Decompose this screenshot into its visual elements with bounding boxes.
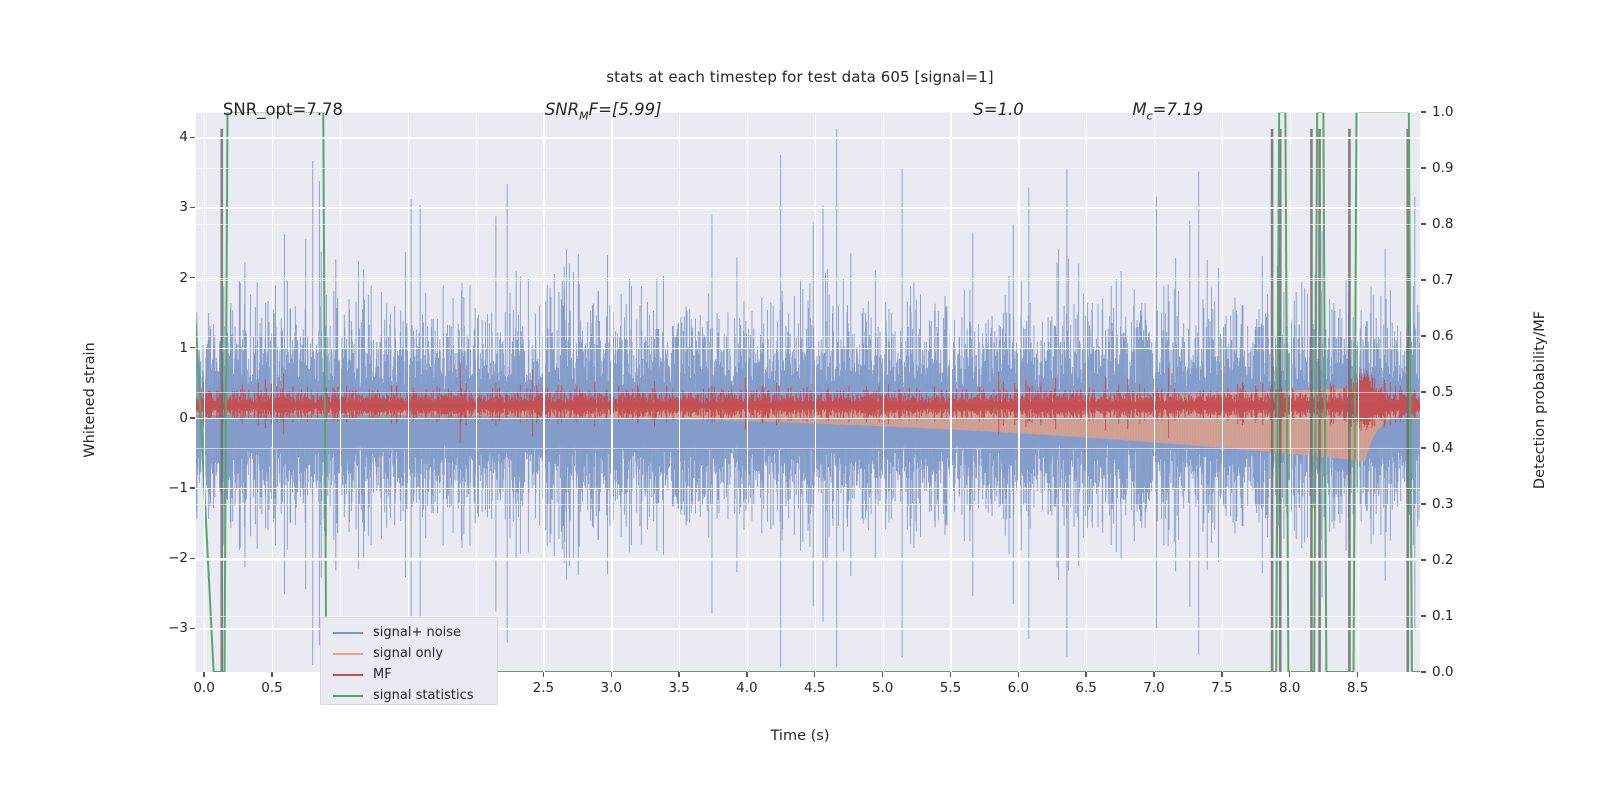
y-tick-mark-right	[1421, 111, 1426, 112]
legend-item-signal-only[interactable]: signal only	[321, 643, 497, 664]
annotation-snr-mf: SNRMF=[5.99]	[545, 100, 662, 122]
y-tick-label-right: 0.7	[1432, 272, 1492, 288]
legend-label-mf: MF	[373, 668, 392, 681]
gridline-vertical	[950, 112, 951, 672]
y-tick-mark-right	[1421, 279, 1426, 280]
legend-label-signal-statistics: signal statistics	[373, 689, 474, 702]
x-tick-mark	[271, 672, 272, 677]
legend-box[interactable]: signal+ noise signal only MF signal stat…	[320, 617, 498, 705]
figure-canvas: stats at each timestep for test data 605…	[0, 0, 1600, 800]
gridline-vertical	[476, 112, 477, 672]
y-tick-label-right: 0.0	[1432, 664, 1492, 680]
y-tick-mark-right	[1421, 615, 1426, 616]
y-tick-label-right: 0.9	[1432, 160, 1492, 176]
gridline-horizontal-right	[196, 392, 1420, 393]
y-tick-label-right: 0.1	[1432, 608, 1492, 624]
legend-item-signal-statistics[interactable]: signal statistics	[321, 685, 497, 706]
gridline-horizontal-right	[196, 224, 1420, 225]
y-tick-label-left: 1	[128, 340, 188, 356]
y-tick-mark-right	[1421, 223, 1426, 224]
x-tick-mark	[1221, 672, 1222, 677]
gridline-horizontal	[196, 488, 1420, 489]
gridline-horizontal	[196, 137, 1420, 138]
x-tick-label: 8.0	[1279, 680, 1300, 696]
x-tick-mark	[203, 672, 204, 677]
x-tick-mark	[1289, 672, 1290, 677]
gridline-vertical	[747, 112, 748, 672]
gridline-vertical	[272, 112, 273, 672]
annotation-chirp-mass: Mc=7.19	[1132, 100, 1203, 122]
gridline-horizontal-right	[196, 448, 1420, 449]
x-tick-mark	[678, 672, 679, 677]
y-tick-mark-right	[1421, 559, 1426, 560]
x-tick-mark	[611, 672, 612, 677]
legend-swatch-signal-statistics	[333, 695, 363, 697]
gridline-vertical	[204, 112, 205, 672]
gridline-vertical	[1222, 112, 1223, 672]
y-tick-mark-left	[190, 207, 195, 208]
x-tick-mark	[746, 672, 747, 677]
annotation-snr-opt: SNR_opt=7.78	[223, 100, 343, 119]
y-tick-label-left: 4	[128, 129, 188, 145]
x-tick-label: 5.5	[940, 680, 961, 696]
x-tick-mark	[882, 672, 883, 677]
x-tick-label: 6.5	[1075, 680, 1096, 696]
gridline-vertical	[611, 112, 612, 672]
legend-label-signal-noise: signal+ noise	[373, 626, 461, 639]
x-tick-mark	[1085, 672, 1086, 677]
y-tick-label-right: 0.4	[1432, 440, 1492, 456]
gridline-horizontal-right	[196, 280, 1420, 281]
x-tick-mark	[1153, 672, 1154, 677]
x-tick-label: 0.5	[261, 680, 282, 696]
x-axis-label: Time (s)	[0, 728, 1600, 744]
x-tick-label: 8.5	[1347, 680, 1368, 696]
x-tick-label: 3.0	[600, 680, 621, 696]
gridline-horizontal-right	[196, 336, 1420, 337]
x-tick-label: 4.0	[736, 680, 757, 696]
y-tick-mark-left	[190, 628, 195, 629]
y-tick-label-right: 0.3	[1432, 496, 1492, 512]
y-tick-mark-left	[190, 137, 195, 138]
gridline-horizontal	[196, 348, 1420, 349]
y-axis-label-right: Detection probability/MF	[1532, 250, 1548, 550]
gridline-vertical	[408, 112, 409, 672]
x-tick-label: 2.5	[533, 680, 554, 696]
y-tick-mark-left	[190, 417, 195, 418]
legend-swatch-mf	[333, 674, 363, 676]
y-tick-mark-right	[1421, 447, 1426, 448]
x-tick-label: 4.5	[804, 680, 825, 696]
gridline-vertical	[340, 112, 341, 672]
x-tick-mark	[543, 672, 544, 677]
gridline-vertical	[815, 112, 816, 672]
y-tick-mark-left	[190, 558, 195, 559]
page-title: stats at each timestep for test data 605…	[0, 68, 1600, 86]
gridline-vertical	[883, 112, 884, 672]
gridline-horizontal-right	[196, 504, 1420, 505]
x-tick-label: 0.0	[193, 680, 214, 696]
y-tick-mark-right	[1421, 503, 1426, 504]
x-tick-label: 7.5	[1211, 680, 1232, 696]
gridline-vertical	[1290, 112, 1291, 672]
y-tick-mark-right	[1421, 391, 1426, 392]
gridline-horizontal-right	[196, 112, 1420, 113]
x-tick-mark	[814, 672, 815, 677]
legend-item-signal-noise[interactable]: signal+ noise	[321, 622, 497, 643]
plot-area[interactable]	[196, 112, 1420, 672]
y-tick-label-right: 0.6	[1432, 328, 1492, 344]
x-tick-mark	[1018, 672, 1019, 677]
y-tick-mark-left	[190, 277, 195, 278]
y-tick-label-left: −3	[128, 620, 188, 636]
y-tick-mark-left	[190, 347, 195, 348]
y-tick-mark-right	[1421, 335, 1426, 336]
y-tick-label-left: −2	[128, 550, 188, 566]
x-tick-mark	[1357, 672, 1358, 677]
legend-swatch-signal-noise	[333, 632, 363, 634]
x-tick-label: 6.0	[1008, 680, 1029, 696]
y-tick-label-right: 0.5	[1432, 384, 1492, 400]
y-axis-label-left: Whitened strain	[82, 250, 98, 550]
legend-label-signal-only: signal only	[373, 647, 443, 660]
y-tick-label-left: 3	[128, 199, 188, 215]
gridline-horizontal	[196, 278, 1420, 279]
y-tick-label-left: 2	[128, 270, 188, 286]
gridline-vertical	[1358, 112, 1359, 672]
gridline-vertical	[543, 112, 544, 672]
gridline-horizontal	[196, 418, 1420, 419]
y-tick-mark-left	[190, 487, 195, 488]
annotation-s-stat: S=1.0	[973, 100, 1024, 119]
x-tick-mark	[950, 672, 951, 677]
y-tick-mark-right	[1421, 167, 1426, 168]
y-tick-label-right: 0.2	[1432, 552, 1492, 568]
legend-item-mf[interactable]: MF	[321, 664, 497, 685]
gridline-horizontal	[196, 207, 1420, 208]
y-tick-mark-right	[1421, 671, 1426, 672]
y-tick-label-right: 1.0	[1432, 104, 1492, 120]
y-tick-label-left: −1	[128, 480, 188, 496]
gridline-vertical	[1086, 112, 1087, 672]
y-tick-label-left: 0	[128, 410, 188, 426]
gridline-vertical	[1018, 112, 1019, 672]
gridline-horizontal-right	[196, 168, 1420, 169]
legend-swatch-signal-only	[333, 653, 363, 655]
gridline-horizontal-right	[196, 560, 1420, 561]
x-tick-label: 3.5	[668, 680, 689, 696]
gridline-vertical	[679, 112, 680, 672]
x-tick-label: 7.0	[1143, 680, 1164, 696]
gridline-vertical	[1154, 112, 1155, 672]
x-tick-label: 5.0	[872, 680, 893, 696]
y-tick-label-right: 0.8	[1432, 216, 1492, 232]
